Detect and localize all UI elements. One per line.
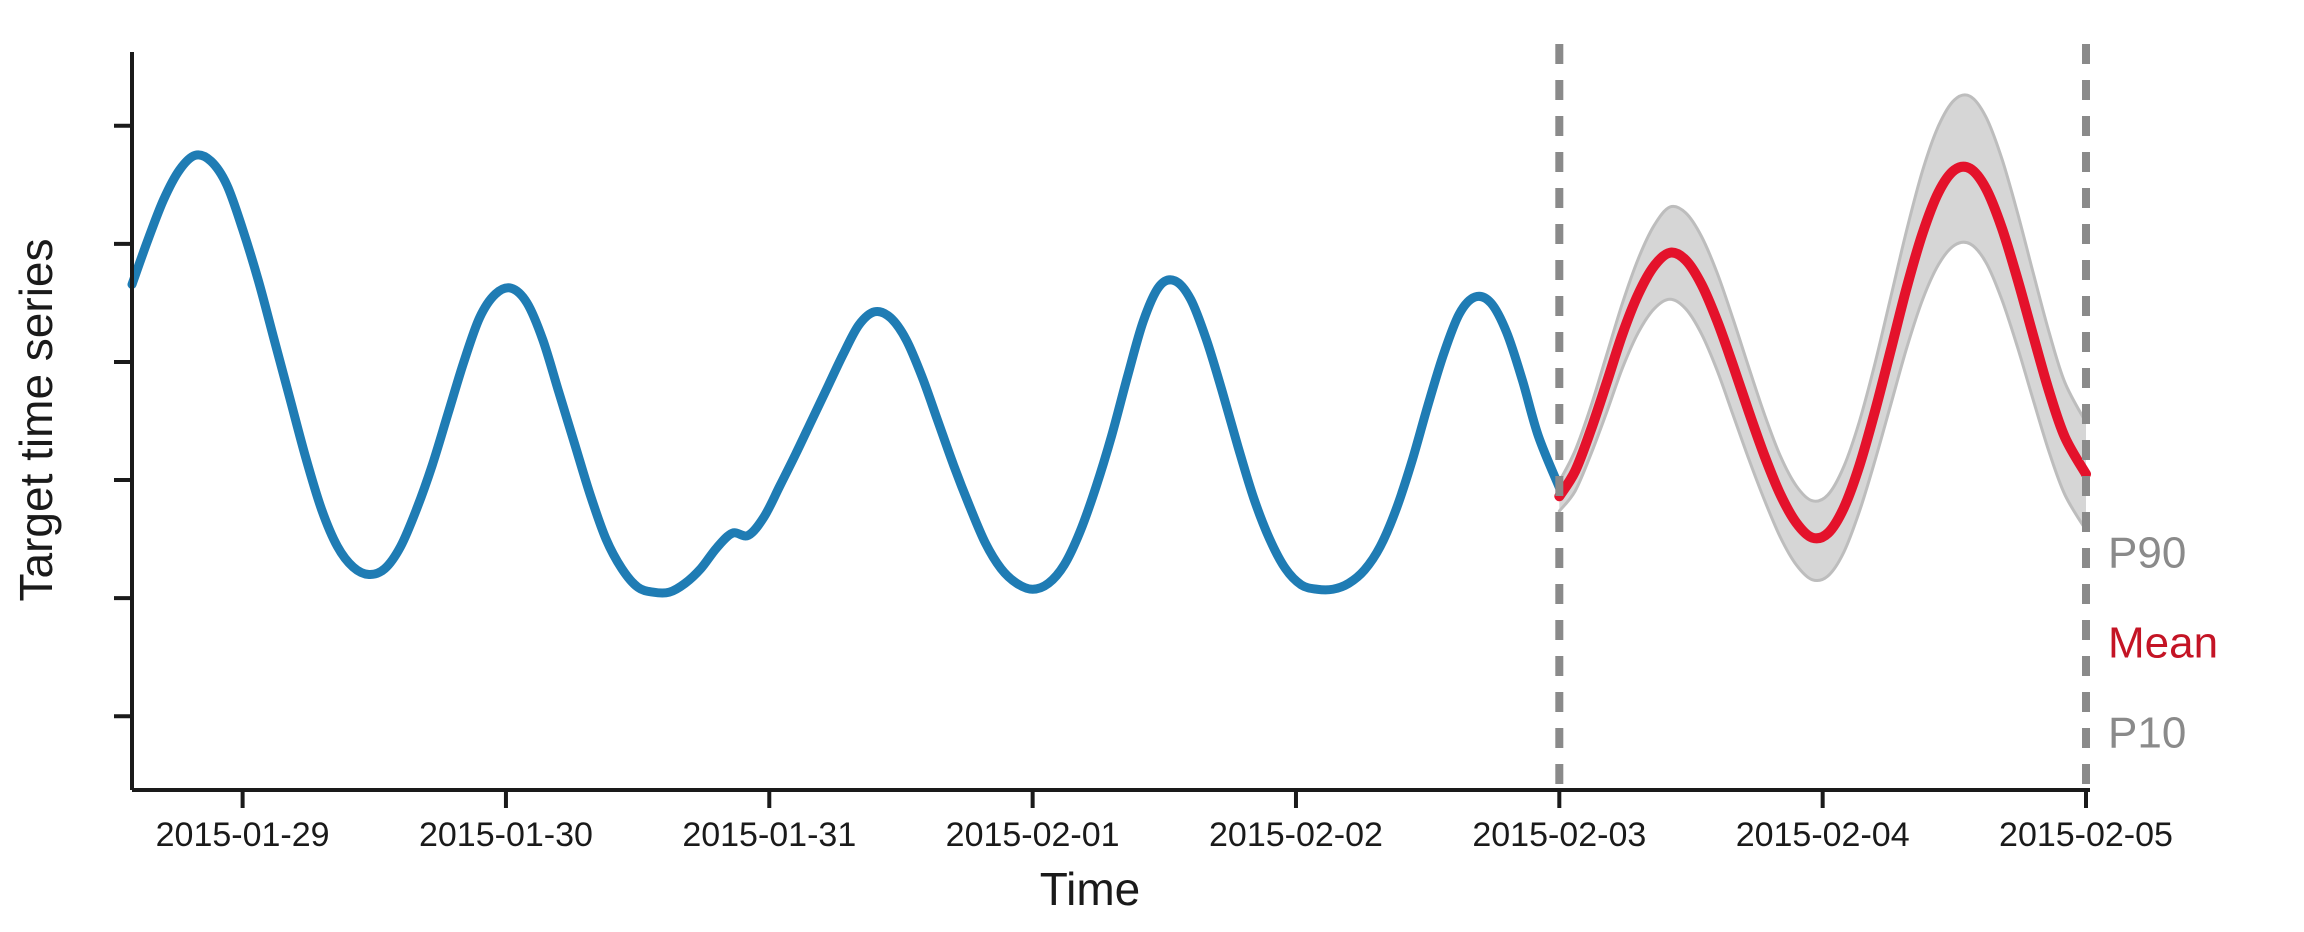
x-tick-label: 2015-02-04	[1736, 816, 1910, 854]
x-axis-ticks	[243, 790, 2086, 808]
y-axis-ticks	[114, 126, 132, 716]
x-axis-title: Time	[1040, 863, 1141, 915]
x-tick-label: 2015-02-01	[946, 816, 1120, 854]
legend-label-p90: P90	[2108, 529, 2186, 578]
legend-label-p10: P10	[2108, 709, 2186, 758]
forecast-dividers	[1559, 44, 2086, 796]
x-tick-label: 2015-01-29	[156, 816, 330, 854]
history-series-line	[132, 155, 1559, 593]
forecast-chart: 2015-01-292015-01-302015-01-312015-02-01…	[0, 0, 2304, 932]
x-tick-label: 2015-02-02	[1209, 816, 1383, 854]
x-axis-tick-labels: 2015-01-292015-01-302015-01-312015-02-01…	[156, 816, 2173, 854]
chart-legend: P90MeanP10	[2108, 529, 2218, 758]
legend-label-mean: Mean	[2108, 619, 2218, 668]
y-axis-title: Target time series	[10, 238, 62, 601]
x-tick-label: 2015-01-30	[419, 816, 593, 854]
x-tick-label: 2015-02-03	[1472, 816, 1646, 854]
chart-canvas: 2015-01-292015-01-302015-01-312015-02-01…	[0, 0, 2304, 932]
confidence-band-group	[1559, 95, 2086, 581]
p10-p90-confidence-band	[1559, 95, 2086, 581]
x-tick-label: 2015-01-31	[682, 816, 856, 854]
x-tick-label: 2015-02-05	[1999, 816, 2173, 854]
